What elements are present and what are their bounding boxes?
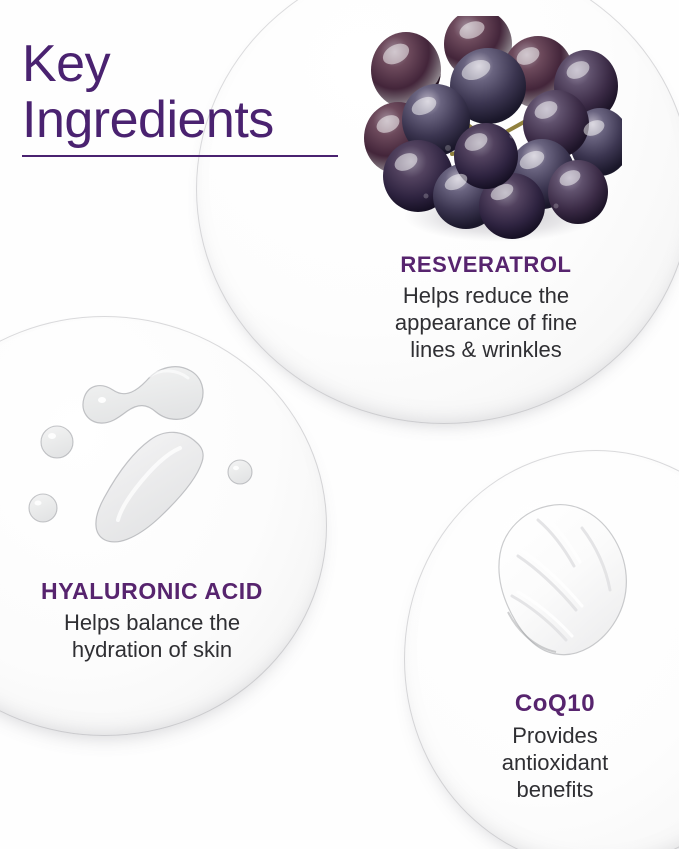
ingredient-block-coq10: CoQ10 Provides antioxidant benefits (446, 690, 664, 803)
cream-swatch-image (478, 492, 648, 672)
page-title: Key Ingredients (22, 36, 352, 148)
ingredient-name-resveratrol: RESVERATROL (352, 252, 620, 278)
ingredient-description-resveratrol: Helps reduce the appearance of fine line… (352, 283, 620, 363)
ingredient-description-hyaluronic-acid: Helps balance the hydration of skin (0, 610, 308, 664)
title-underline (22, 155, 338, 157)
grapes-image (360, 16, 622, 244)
key-ingredients-infographic: Key Ingredients RESVERATROL Helps reduce… (0, 0, 679, 849)
ingredient-name-coq10: CoQ10 (446, 690, 664, 718)
ingredient-description-coq10: Provides antioxidant benefits (446, 723, 664, 803)
ingredient-block-resveratrol: RESVERATROL Helps reduce the appearance … (352, 252, 620, 363)
gel-droplets-image (0, 312, 300, 562)
ingredient-name-hyaluronic-acid: HYALURONIC ACID (0, 578, 308, 605)
ingredient-block-hyaluronic-acid: HYALURONIC ACID Helps balance the hydrat… (0, 578, 308, 664)
